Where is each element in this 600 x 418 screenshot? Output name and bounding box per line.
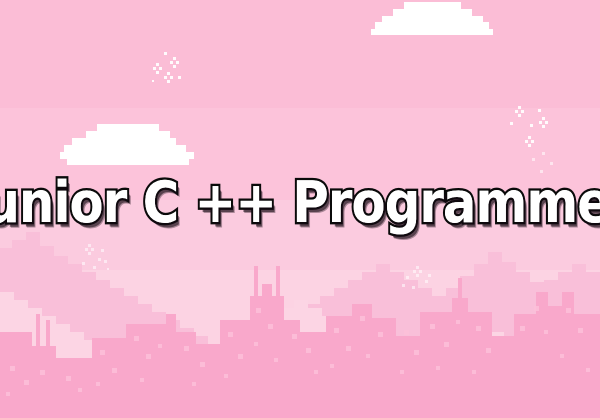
- city-skyline-layer: [0, 258, 600, 418]
- city-skyline-svg: [0, 258, 600, 418]
- pixel-art-banner: Junior C ++ Programmer Junior C ++ Progr…: [0, 0, 600, 418]
- city-buildings: [0, 266, 600, 418]
